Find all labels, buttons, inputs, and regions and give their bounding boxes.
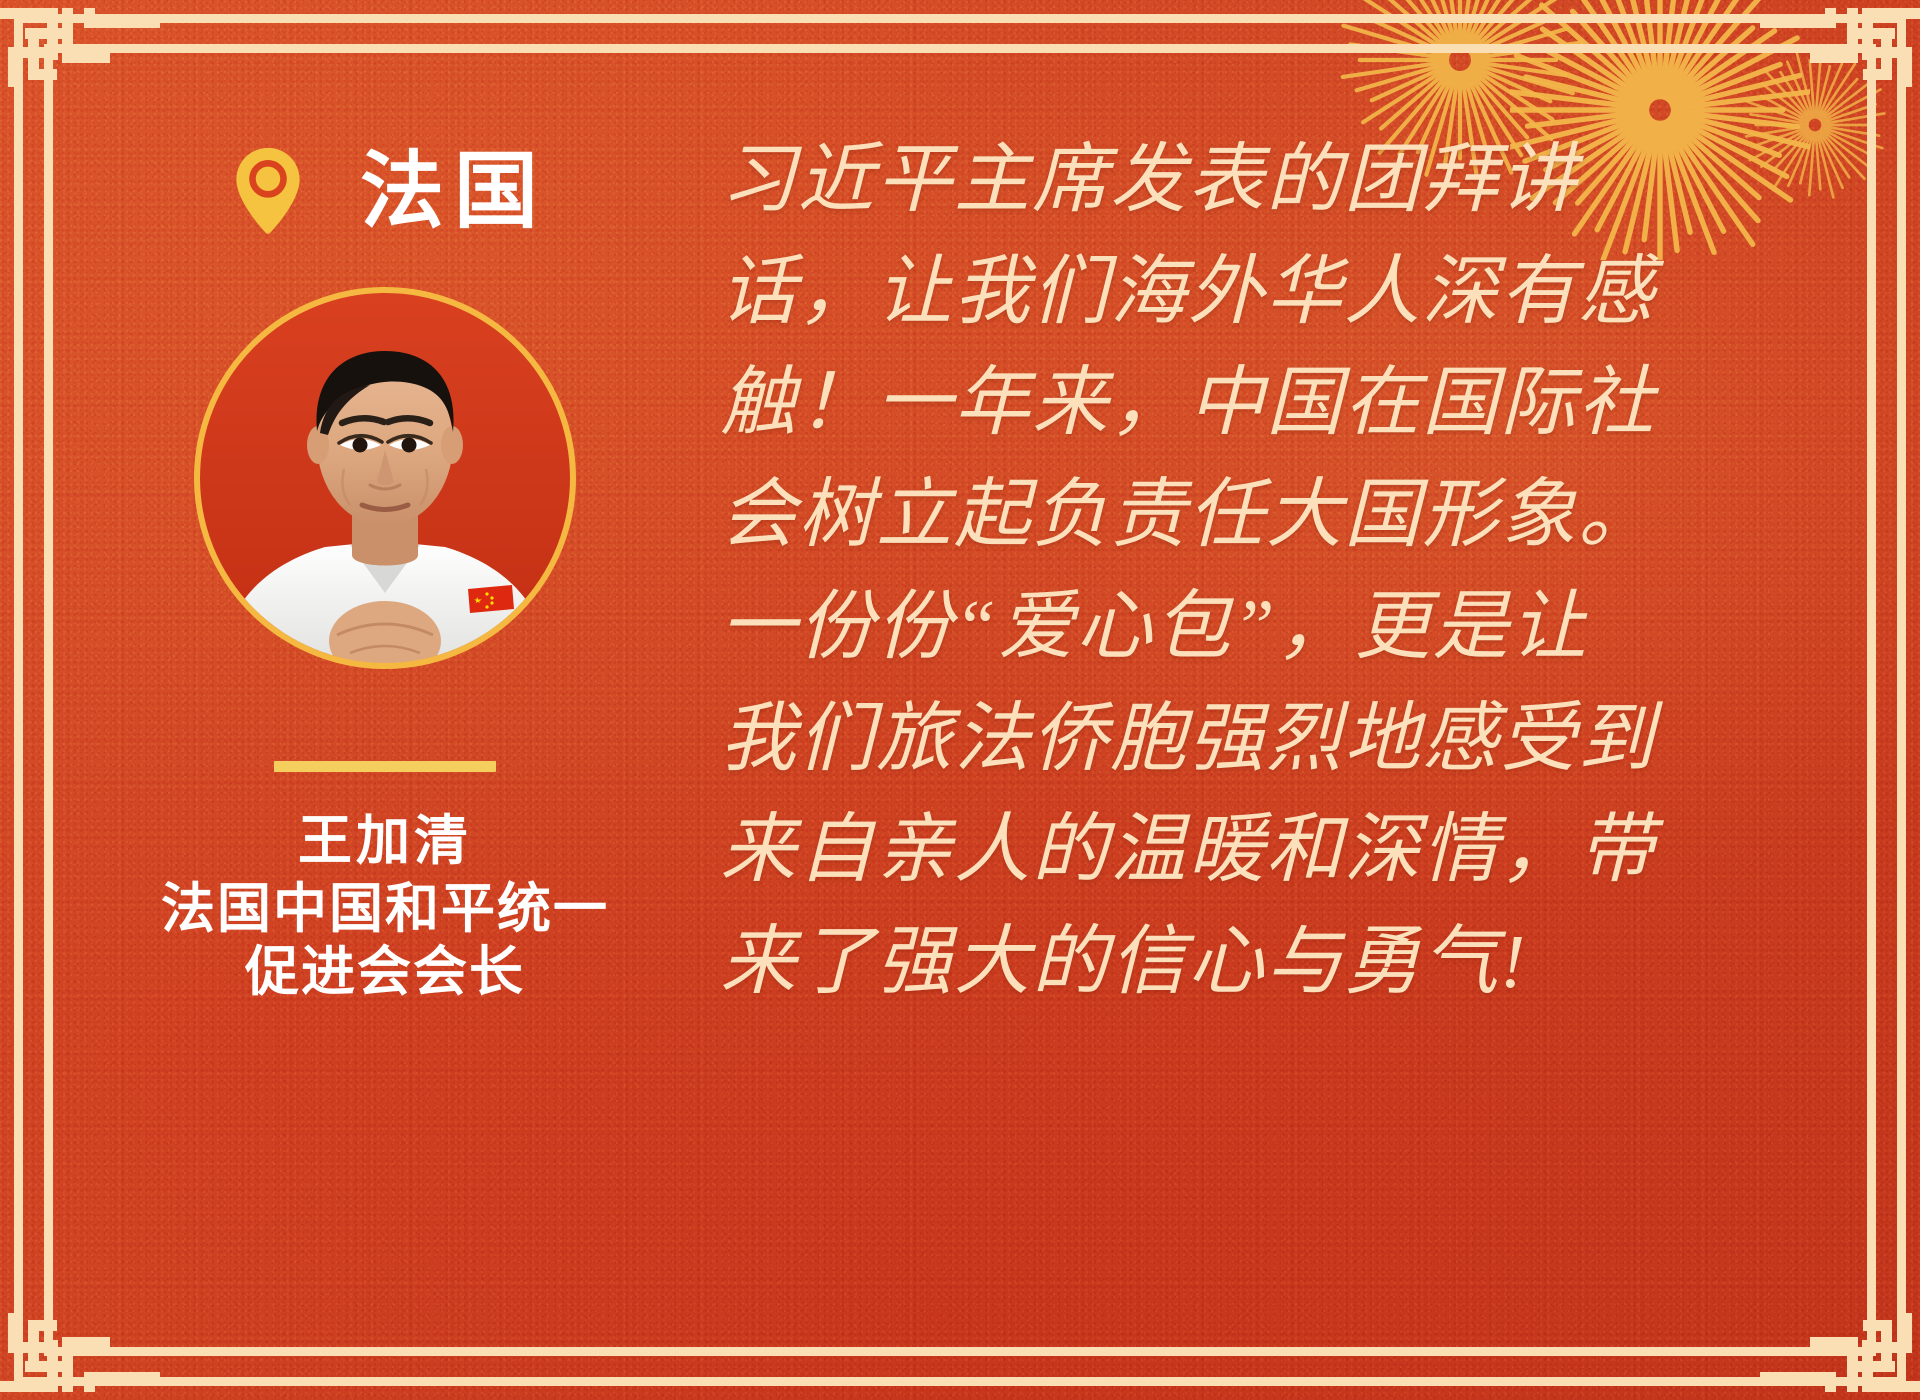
quote-line: 来了强大的信心与勇气! [720, 907, 1830, 1019]
country-label: 法国 [360, 149, 548, 233]
person-name: 王加清 [298, 810, 472, 874]
quote-line: 话，让我们海外华人深有感 [720, 237, 1830, 349]
person-title-line: 法国中国和平统一 [161, 878, 609, 942]
gold-divider [274, 761, 496, 772]
quote-line: 会树立起负责任大国形象。 [720, 460, 1830, 572]
greeting-card: 法国 [0, 0, 1920, 1400]
quote-panel: 习近平主席发表的团拜讲话，让我们海外华人深有感触！一年来，中国在国际社会树立起负… [700, 70, 1850, 1330]
avatar [194, 287, 576, 669]
person-title: 法国中国和平统一促进会会长 [161, 878, 609, 1005]
quote-line: 来自亲人的温暖和深情，带 [720, 795, 1830, 907]
location-pin-icon [222, 145, 314, 237]
quote-line: 我们旅法侨胞强烈地感受到 [720, 684, 1830, 796]
quote-text: 习近平主席发表的团拜讲话，让我们海外华人深有感触！一年来，中国在国际社会树立起负… [720, 125, 1830, 1019]
avatar-gold-ring [194, 287, 576, 669]
location-header: 法国 [222, 145, 548, 237]
quote-line: 习近平主席发表的团拜讲 [720, 125, 1830, 237]
speaker-panel: 法国 [70, 70, 700, 1330]
person-title-line: 促进会会长 [161, 941, 609, 1005]
quote-line: 一份份“爱心包”，更是让 [720, 572, 1830, 684]
card-content: 法国 [70, 70, 1850, 1330]
quote-line: 触！一年来，中国在国际社 [720, 348, 1830, 460]
